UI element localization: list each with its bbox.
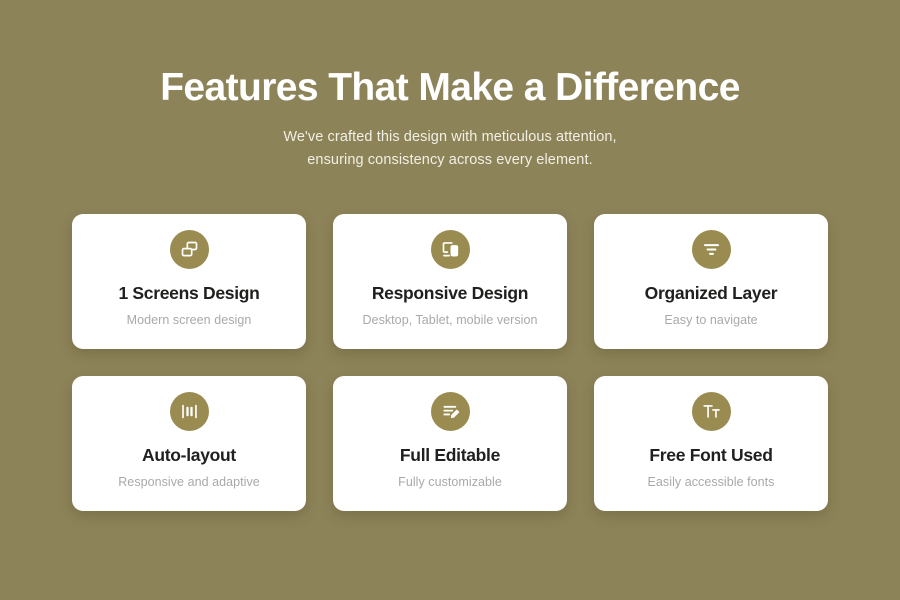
feature-card-title: Full Editable <box>400 444 500 466</box>
feature-card-description: Desktop, Tablet, mobile version <box>362 312 537 328</box>
auto-layout-columns-icon <box>170 392 209 431</box>
feature-card-responsive-design[interactable]: Responsive Design Desktop, Tablet, mobil… <box>333 214 567 349</box>
feature-card-title: Responsive Design <box>372 282 528 304</box>
screens-windows-icon <box>170 230 209 269</box>
page-title: Features That Make a Difference <box>0 66 900 110</box>
features-grid: 1 Screens Design Modern screen design Re… <box>72 214 828 511</box>
feature-card-title: Free Font Used <box>649 444 772 466</box>
feature-card-description: Easily accessible fonts <box>648 474 775 490</box>
feature-card-free-font[interactable]: Free Font Used Easily accessible fonts <box>594 376 828 511</box>
feature-card-description: Responsive and adaptive <box>118 474 260 490</box>
page-subtitle-line-2: ensuring consistency across every elemen… <box>0 149 900 172</box>
edit-pencil-lines-icon <box>431 392 470 431</box>
features-page: Features That Make a Difference We've cr… <box>0 0 900 600</box>
page-header: Features That Make a Difference We've cr… <box>0 0 900 172</box>
feature-card-description: Fully customizable <box>398 474 502 490</box>
feature-card-title: Organized Layer <box>645 282 778 304</box>
typography-tt-icon <box>692 392 731 431</box>
responsive-devices-icon <box>431 230 470 269</box>
feature-card-screens-design[interactable]: 1 Screens Design Modern screen design <box>72 214 306 349</box>
page-subtitle-line-1: We've crafted this design with meticulou… <box>0 126 900 149</box>
feature-card-description: Modern screen design <box>127 312 252 328</box>
feature-card-description: Easy to navigate <box>664 312 757 328</box>
feature-card-auto-layout[interactable]: Auto-layout Responsive and adaptive <box>72 376 306 511</box>
feature-card-title: Auto-layout <box>142 444 236 466</box>
page-subtitle: We've crafted this design with meticulou… <box>0 126 900 172</box>
feature-card-organized-layer[interactable]: Organized Layer Easy to navigate <box>594 214 828 349</box>
feature-card-full-editable[interactable]: Full Editable Fully customizable <box>333 376 567 511</box>
feature-card-title: 1 Screens Design <box>118 282 259 304</box>
filter-layers-icon <box>692 230 731 269</box>
